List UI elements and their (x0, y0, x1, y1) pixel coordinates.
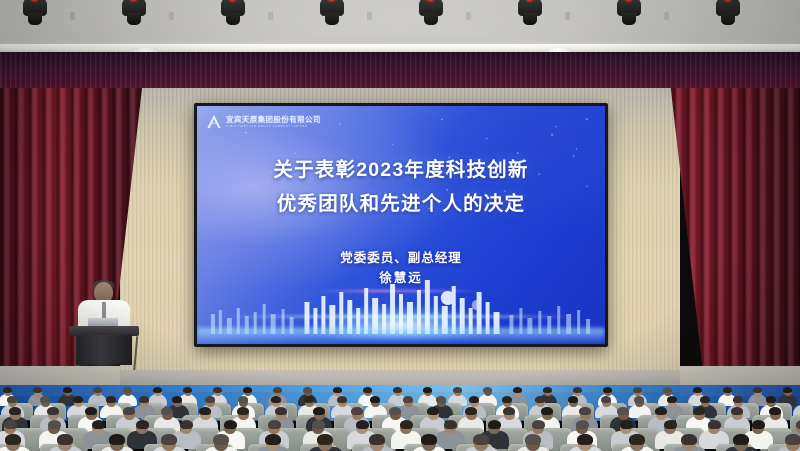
skyline-base-glow (197, 328, 605, 344)
ceiling-fixture (169, 12, 174, 20)
audience-member-hair (48, 420, 61, 429)
audience-member-hair (664, 420, 677, 429)
audience-member-hair (351, 407, 363, 415)
audience-member-hair (93, 387, 102, 393)
spotlight-lens (424, 13, 438, 25)
spotlight-lens (127, 13, 141, 25)
city-skyline-glow (197, 268, 605, 344)
audience-member-hair (136, 420, 149, 429)
audience-member-hair (785, 434, 800, 445)
audience-member-hair (238, 396, 248, 403)
audience-member-hair (693, 407, 705, 415)
stage-spotlight (119, 0, 149, 30)
audience-member-hair (5, 434, 20, 445)
audience-member-hair (681, 434, 696, 445)
audience-member-hair (733, 434, 748, 445)
logo-company-en: YIBIN TIANYUAN GROUP COMPANY LIMITED (226, 125, 321, 128)
spotlight-lens (523, 13, 537, 25)
ceiling-fixture (70, 12, 75, 20)
audience-member-hair (769, 407, 781, 415)
spotlight-lens (226, 13, 240, 25)
audience-member-hair (161, 407, 173, 415)
spotlight-indicator-led (527, 0, 532, 1)
headline-line-2: 优秀团队和先进个人的决定 (197, 188, 605, 222)
audience-member-hair (663, 387, 672, 393)
audience-member-hair (400, 420, 413, 429)
ceiling-fixture (466, 12, 471, 20)
audience-member-hair (9, 407, 21, 415)
audience-member-hair (369, 434, 384, 445)
audience-member-hair (213, 387, 222, 393)
audience-member-hair (525, 434, 540, 445)
audience-member-hair (532, 420, 545, 429)
ceiling-fixture (268, 12, 273, 20)
audience-member-hair (237, 407, 249, 415)
audience-member-hair (63, 387, 72, 393)
audience-member-hair (275, 407, 287, 415)
audience-member-hair (427, 407, 439, 415)
spotlight-indicator-led (626, 0, 631, 1)
podium-body (76, 335, 132, 365)
audience-member-hair (620, 420, 633, 429)
audience-member-hair (577, 434, 592, 445)
audience-member-hair (708, 420, 721, 429)
speaker-role: 党委委员、副总经理 (197, 249, 605, 268)
audience-member-hair (85, 407, 97, 415)
slide-headline: 关于表彰2023年度科技创新 优秀团队和先进个人的决定 (197, 154, 605, 221)
company-logo: 宜宾天原集团股份有限公司 YIBIN TIANYUAN GROUP COMPAN… (206, 114, 321, 129)
audience-member-hair (766, 396, 776, 403)
audience-member-hair (700, 396, 710, 403)
audience-member-hair (47, 407, 59, 415)
audience-member-hair (634, 396, 644, 403)
audience-member-hair (693, 387, 702, 393)
audience-member-hair (436, 396, 446, 403)
ceiling-fixture (664, 12, 669, 20)
audience-member-hair (633, 387, 642, 393)
audience-member-hair (503, 407, 515, 415)
audience-member-hair (576, 420, 589, 429)
stage-spotlight (713, 0, 743, 30)
audience-member-hair (57, 434, 72, 445)
audience-member-hair (265, 434, 280, 445)
audience-member-hair (629, 434, 644, 445)
audience-member-hair (752, 420, 765, 429)
audience-member-hair (731, 407, 743, 415)
audience-member-hair (513, 387, 522, 393)
audience-member-hair (268, 420, 281, 429)
audience-member-hair (224, 420, 237, 429)
spotlight-indicator-led (725, 0, 730, 1)
audience-member-hair (502, 396, 512, 403)
audience-member-hair (3, 387, 12, 393)
audience-member-hair (488, 420, 501, 429)
spotlight-indicator-led (428, 0, 433, 1)
audience-member-hair (655, 407, 667, 415)
audience-member-hair (370, 396, 380, 403)
stage-spotlight (614, 0, 644, 30)
ceiling-light-strip (0, 44, 800, 52)
audience-member-hair (541, 407, 553, 415)
audience-member-hair (444, 420, 457, 429)
audience-member-hair (483, 387, 492, 393)
led-screen-bezel: 宜宾天原集团股份有限公司 YIBIN TIANYUAN GROUP COMPAN… (194, 103, 608, 347)
logo-company-cn: 宜宾天原集团股份有限公司 (226, 116, 321, 124)
audience-member-hair (33, 387, 42, 393)
headline-line-1: 关于表彰2023年度科技创新 (197, 154, 605, 188)
spotlight-lens (325, 13, 339, 25)
audience-member-hair (180, 420, 193, 429)
audience-member-hair (313, 407, 325, 415)
skyline-buildings (197, 278, 605, 334)
audience-member-hair (469, 396, 479, 403)
stage-spotlight (416, 0, 446, 30)
stage-spotlight (218, 0, 248, 30)
audience-member-hair (733, 396, 743, 403)
audience-member-hair (303, 387, 312, 393)
audience-member-hair (356, 420, 369, 429)
spotlight-indicator-led (329, 0, 334, 1)
audience-member-hair (601, 396, 611, 403)
audience-member-hair (92, 420, 105, 429)
audience-member-hair (393, 387, 402, 393)
audience-member-hair (337, 396, 347, 403)
audience-member-hair (543, 387, 552, 393)
audience-member-hair (304, 396, 314, 403)
audience-area (0, 386, 800, 451)
ceiling-fixture (565, 12, 570, 20)
stage-spotlight (20, 0, 50, 30)
spotlight-lens (28, 13, 42, 25)
audience-member-hair (389, 407, 401, 415)
auditorium-scene: 宜宾天原集团股份有限公司 YIBIN TIANYUAN GROUP COMPAN… (0, 0, 800, 451)
audience-member-hair (403, 396, 413, 403)
audience-member-hair (73, 396, 83, 403)
audience-member-hair (423, 387, 432, 393)
audience-member-hair (568, 396, 578, 403)
audience-member-hair (273, 387, 282, 393)
audience-member-hair (333, 387, 342, 393)
audience-member-hair (161, 434, 176, 445)
spotlight-lens (721, 13, 735, 25)
audience-member-hair (783, 387, 792, 393)
led-screen: 宜宾天原集团股份有限公司 YIBIN TIANYUAN GROUP COMPAN… (197, 106, 605, 344)
audience-member-hair (579, 407, 591, 415)
stage-spotlight (515, 0, 545, 30)
audience-member-hair (603, 387, 612, 393)
audience-member-hair (153, 387, 162, 393)
audience-member-hair (317, 434, 332, 445)
audience-member-hair (109, 434, 124, 445)
audience-member-hair (7, 396, 17, 403)
audience-member-hair (723, 387, 732, 393)
spotlight-indicator-led (32, 0, 37, 1)
ceiling-fixture (367, 12, 372, 20)
stage-spotlight (317, 0, 347, 30)
audience-member-hair (172, 396, 182, 403)
audience-member-hair (40, 396, 50, 403)
audience-member-hair (421, 434, 436, 445)
audience-member-hair (573, 387, 582, 393)
tianyuan-a-mark (206, 114, 222, 129)
audience-member-hair (535, 396, 545, 403)
audience-member-hair (183, 387, 192, 393)
spotlight-indicator-led (230, 0, 235, 1)
audience-member-hair (753, 387, 762, 393)
audience-member-hair (271, 396, 281, 403)
spotlight-indicator-led (131, 0, 136, 1)
spotlight-lens (622, 13, 636, 25)
audience-member-hair (617, 407, 629, 415)
audience-member-hair (123, 387, 132, 393)
audience-member-hair (243, 387, 252, 393)
audience-member-hair (667, 396, 677, 403)
audience-member-hair (139, 396, 149, 403)
audience-member-hair (473, 434, 488, 445)
audience-member-hair (123, 407, 135, 415)
audience-member-hair (213, 434, 228, 445)
audience-member-hair (796, 420, 800, 429)
audience-member-hair (4, 420, 17, 429)
audience-member-hair (453, 387, 462, 393)
audience-member-hair (199, 407, 211, 415)
audience-member-hair (205, 396, 215, 403)
audience-member-hair (312, 420, 325, 429)
audience-member-hair (106, 396, 116, 403)
audience-member-hair (465, 407, 477, 415)
speaker-tie (102, 302, 106, 318)
audience-member-hair (363, 387, 372, 393)
